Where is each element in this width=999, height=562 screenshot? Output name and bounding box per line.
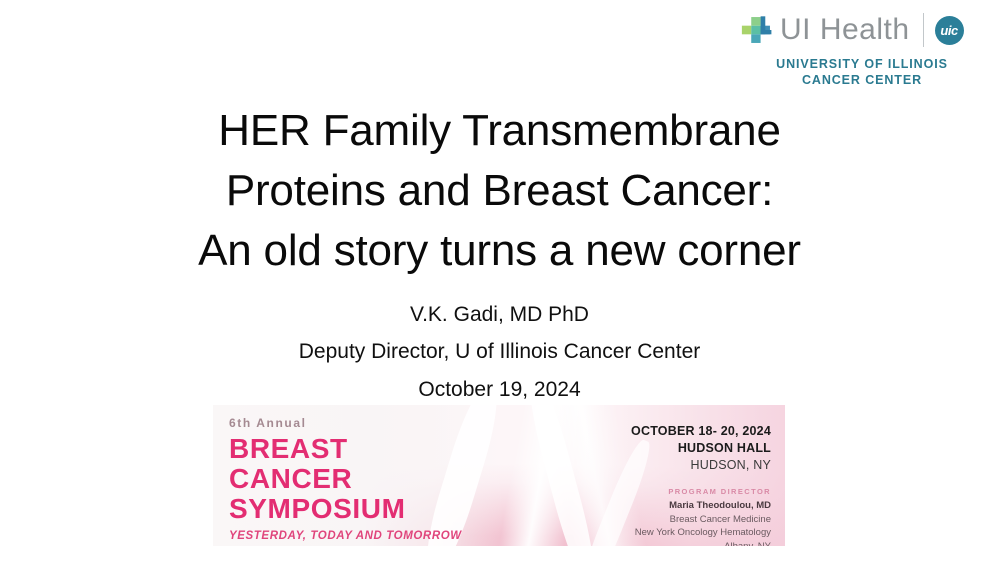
banner-annual-label: 6th Annual (229, 416, 549, 430)
banner-heading-line-2: CANCER (229, 464, 549, 494)
banner-tagline: YESTERDAY, TODAY AND TOMORROW (229, 530, 549, 542)
banner-heading-line-3: SYMPOSIUM (229, 494, 549, 524)
slide-title: HER Family Transmembrane Proteins and Br… (0, 101, 999, 280)
logo-divider (923, 13, 924, 47)
org-line-1: UNIVERSITY OF ILLINOIS (739, 56, 985, 72)
uic-badge-icon: uic (935, 16, 964, 45)
slide-subtitle: V.K. Gadi, MD PhD Deputy Director, U of … (0, 296, 999, 408)
title-line-1: HER Family Transmembrane (0, 101, 999, 161)
banner-details-block: OCTOBER 18- 20, 2024 HUDSON HALL HUDSON,… (531, 423, 771, 546)
banner-program-director-name: Maria Theodoulou, MD (531, 499, 771, 512)
banner-event-date: OCTOBER 18- 20, 2024 (531, 423, 771, 440)
banner-program-director-org: New York Oncology Hematology (531, 526, 771, 539)
presentation-date: October 19, 2024 (0, 371, 999, 408)
title-line-3: An old story turns a new corner (0, 221, 999, 281)
banner-program-director-label: PROGRAM DIRECTOR (531, 487, 771, 496)
logo-row: UI Health uic (739, 8, 989, 52)
ui-health-wordmark: UI Health (780, 15, 910, 45)
cancer-center-org-name: UNIVERSITY OF ILLINOIS CANCER CENTER (739, 56, 989, 88)
banner-program-director-city: Albany, NY (531, 540, 771, 546)
presentation-slide: UI Health uic UNIVERSITY OF ILLINOIS CAN… (0, 0, 999, 562)
presenter-name: V.K. Gadi, MD PhD (0, 296, 999, 333)
symposium-banner-image: 6th Annual BREAST CANCER SYMPOSIUM YESTE… (213, 405, 785, 546)
org-line-2: CANCER CENTER (739, 72, 985, 88)
banner-title-block: 6th Annual BREAST CANCER SYMPOSIUM YESTE… (229, 416, 549, 542)
ui-health-logo-block: UI Health uic UNIVERSITY OF ILLINOIS CAN… (739, 8, 989, 88)
banner-city: HUDSON, NY (531, 457, 771, 474)
presenter-role: Deputy Director, U of Illinois Cancer Ce… (0, 333, 999, 370)
banner-venue: HUDSON HALL (531, 440, 771, 457)
title-line-2: Proteins and Breast Cancer: (0, 161, 999, 221)
banner-program-director-dept: Breast Cancer Medicine (531, 513, 771, 526)
banner-heading-line-1: BREAST (229, 434, 549, 464)
ui-health-cross-logo-icon (739, 12, 775, 48)
